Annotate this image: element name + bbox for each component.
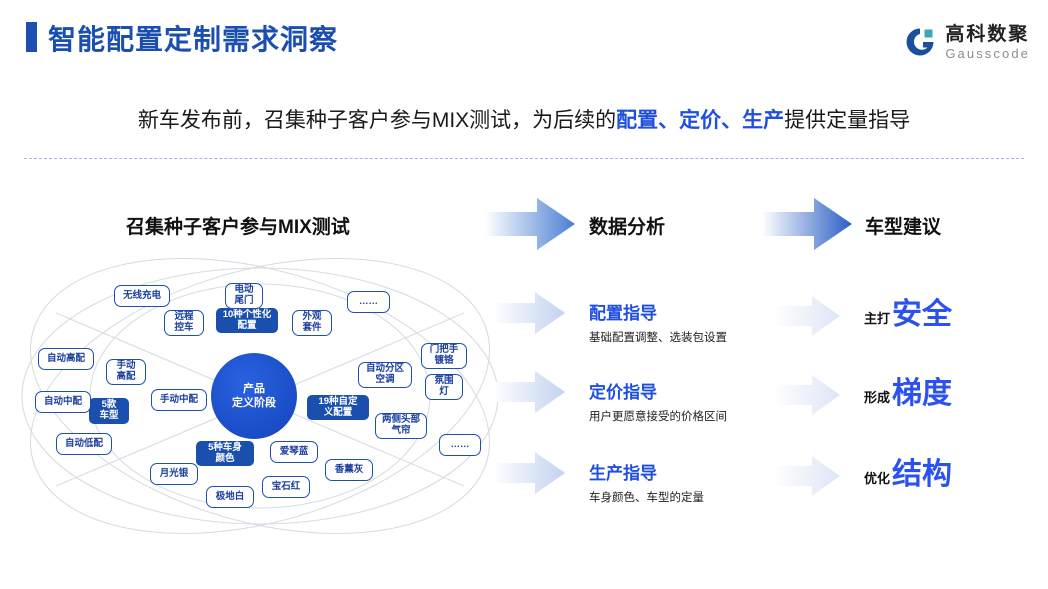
logo-cn-name: 高科数聚 (945, 25, 1030, 44)
mindmap-node-16[interactable]: 爱琴蓝 (270, 441, 318, 463)
mindmap-node-18[interactable]: 香薰灰 (325, 459, 373, 481)
suggestion-keyword-3: 结构 (892, 460, 952, 490)
analysis-title-2: 定价指导 (589, 378, 727, 403)
mindmap-node-4[interactable]: 远程 控车 (164, 310, 204, 336)
logo-en-name: Gausscode (945, 47, 1030, 60)
slide-header: 智能配置定制需求洞察 高科数聚 Gausscode (0, 0, 1048, 78)
analysis-title-1: 配置指导 (589, 299, 727, 324)
mindmap-node-8[interactable]: 门把手 镀铬 (421, 343, 467, 369)
row-arrow-left-2-icon (493, 371, 565, 413)
logo-wordmark: 高科数聚 Gausscode (945, 25, 1030, 60)
gausscode-logo-icon (903, 25, 937, 59)
mindmap-node-15[interactable]: …… (439, 434, 481, 456)
suggestion-prefix-1: 主打 (864, 308, 890, 330)
analysis-desc-1: 基础配置调整、选装包设置 (589, 329, 727, 345)
analysis-item-1[interactable]: 配置指导 基础配置调整、选装包设置 (589, 299, 727, 345)
mindmap-node-1[interactable]: 无线充电 (114, 285, 170, 307)
header-arrow-2-icon (762, 198, 852, 250)
analysis-desc-3: 车身颜色、车型的定量 (589, 489, 704, 505)
suggestion-prefix-3: 优化 (864, 468, 890, 490)
mindmap-node-11[interactable]: 手动中配 (151, 389, 207, 411)
column-header-model-advice: 车型建议 (865, 212, 941, 239)
column-header-mix-test: 召集种子客户参与MIX测试 (126, 212, 350, 239)
mindmap-node-7[interactable]: 手动 高配 (106, 359, 146, 385)
mindmap-node-3[interactable]: …… (347, 291, 390, 313)
center-node-label: 产品 定义阶段 (232, 382, 276, 411)
row-arrow-right-3-icon (772, 456, 840, 496)
row-arrow-right-1-icon (772, 296, 840, 336)
suggestion-item-1[interactable]: 主打 安全 (864, 300, 952, 330)
mindmap-node-13[interactable]: 自动低配 (56, 433, 112, 455)
suggestion-item-2[interactable]: 形成 梯度 (864, 379, 952, 409)
subtitle-line: 新车发布前，召集种子客户参与MIX测试，为后续的配置、定价、生产提供定量指导 (0, 104, 1048, 134)
mindmap-node-9[interactable]: 自动分区 空调 (358, 362, 412, 388)
mindmap-node-17[interactable]: 月光银 (150, 463, 198, 485)
analysis-title-3: 生产指导 (589, 459, 704, 484)
subtitle-part2: 提供定量指导 (784, 109, 910, 132)
page-title: 智能配置定制需求洞察 (48, 18, 338, 58)
mindmap-node-14[interactable]: 两侧头部 气帘 (375, 413, 427, 439)
row-arrow-right-2-icon (772, 375, 840, 415)
row-arrow-left-3-icon (493, 452, 565, 494)
mindmap-category-pill-4[interactable]: 5种车身 颜色 (196, 441, 254, 466)
analysis-item-2[interactable]: 定价指导 用户更愿意接受的价格区间 (589, 378, 727, 424)
suggestion-keyword-1: 安全 (892, 300, 952, 330)
product-definition-mindmap: 产品 定义阶段 10种个性化 配置5款 车型19种自定 义配置5种车身 颜色 无… (16, 258, 506, 543)
mindmap-node-6[interactable]: 自动高配 (38, 348, 94, 370)
mindmap-node-2[interactable]: 电动 尾门 (225, 283, 263, 309)
mindmap-category-pill-2[interactable]: 5款 车型 (89, 398, 129, 424)
analysis-item-3[interactable]: 生产指导 车身颜色、车型的定量 (589, 459, 704, 505)
row-arrow-left-1-icon (493, 292, 565, 334)
subtitle-highlight: 配置、定价、生产 (616, 109, 784, 132)
header-arrow-1-icon (485, 198, 575, 250)
analysis-desc-2: 用户更愿意接受的价格区间 (589, 408, 727, 424)
mindmap-node-12[interactable]: 氛围 灯 (425, 374, 463, 400)
suggestion-keyword-2: 梯度 (892, 379, 952, 409)
column-header-data-analysis: 数据分析 (589, 212, 665, 239)
mindmap-node-10[interactable]: 自动中配 (35, 391, 91, 413)
mindmap-center-node: 产品 定义阶段 (211, 353, 297, 439)
subtitle-part1: 新车发布前，召集种子客户参与MIX测试，为后续的 (138, 109, 616, 132)
brand-logo: 高科数聚 Gausscode (903, 20, 1030, 64)
mindmap-node-20[interactable]: 极地白 (206, 486, 254, 508)
slide-root: 智能配置定制需求洞察 高科数聚 Gausscode 新车发布前，召集种子客户参与… (0, 0, 1048, 589)
mindmap-node-19[interactable]: 宝石红 (262, 476, 310, 498)
mindmap-node-5[interactable]: 外观 套件 (292, 310, 332, 336)
suggestion-prefix-2: 形成 (864, 387, 890, 409)
title-accent-bar (26, 22, 37, 52)
header-divider (24, 158, 1024, 159)
mindmap-category-pill-3[interactable]: 19种自定 义配置 (307, 395, 369, 420)
suggestion-item-3[interactable]: 优化 结构 (864, 460, 952, 490)
mindmap-category-pill-1[interactable]: 10种个性化 配置 (216, 308, 278, 333)
